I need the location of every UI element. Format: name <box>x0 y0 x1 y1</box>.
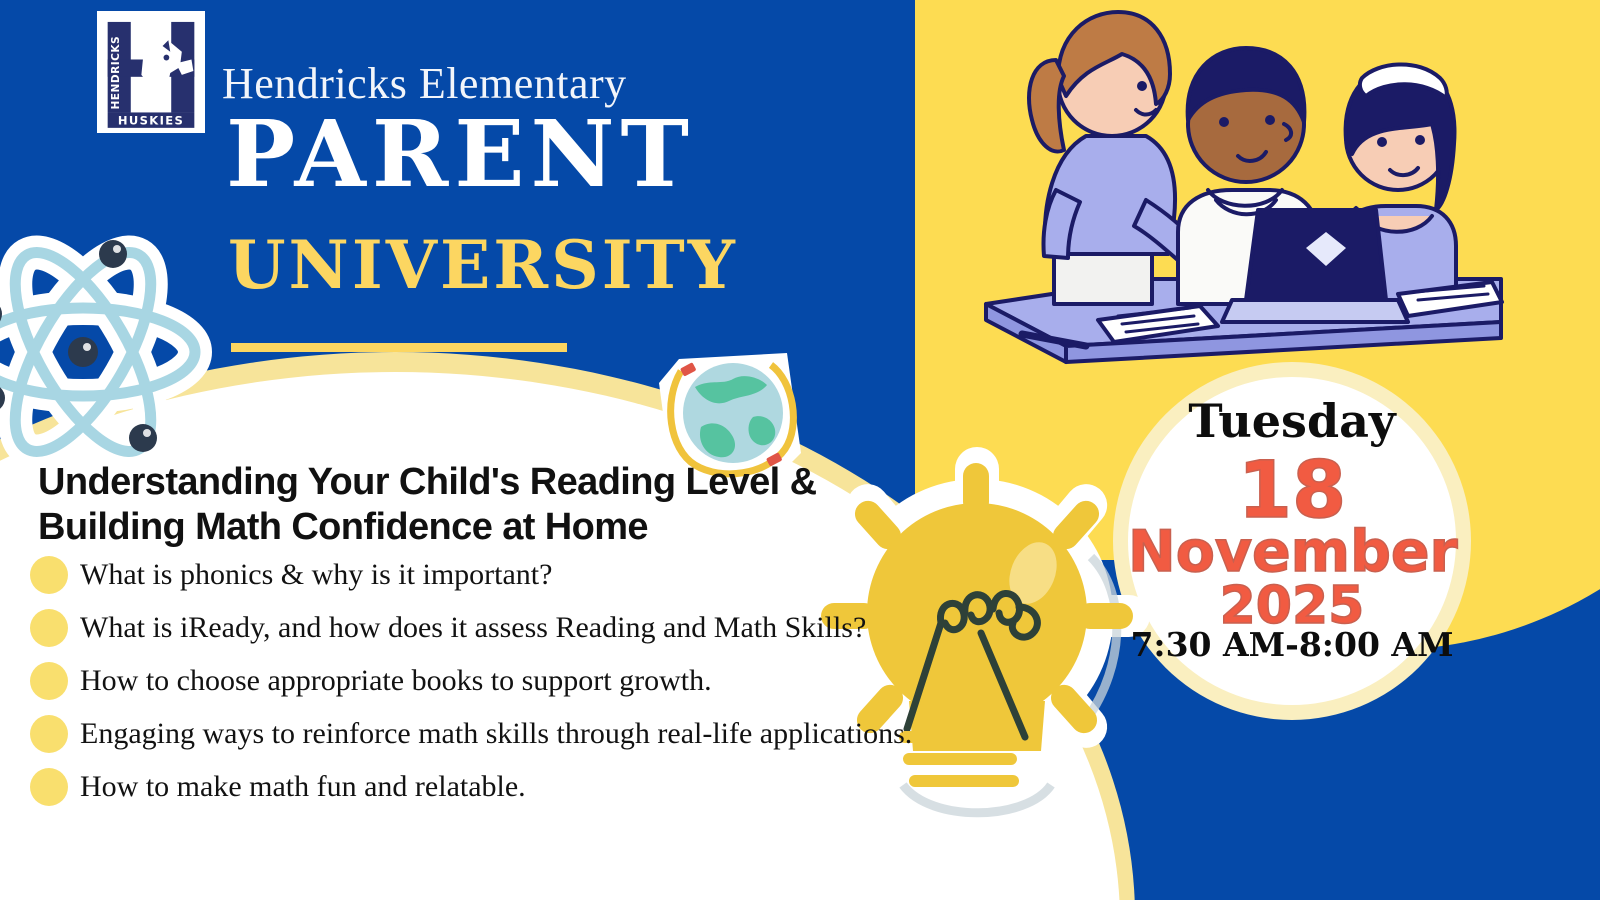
students-with-laptop-illustration <box>946 4 1506 384</box>
event-weekday: Tuesday <box>1128 398 1456 444</box>
title-line-parent: PARENT <box>226 108 695 200</box>
list-item-label: How to choose appropriate books to suppo… <box>80 664 712 698</box>
list-item: What is iReady, and how does it assess R… <box>30 601 890 654</box>
list-item-label: What is iReady, and how does it assess R… <box>80 611 866 645</box>
svg-text:HUSKIES: HUSKIES <box>118 113 184 127</box>
list-item-label: How to make math fun and relatable. <box>80 770 526 804</box>
list-item-label: Engaging ways to reinforce math skills t… <box>80 717 912 751</box>
atom-icon <box>0 228 214 476</box>
list-item-label: What is phonics & why is it important? <box>80 558 552 592</box>
topics-list: What is phonics & why is it important? W… <box>30 548 890 813</box>
page-title: Understanding Your Child's Reading Level… <box>38 460 828 550</box>
hendricks-huskies-logo: HENDRICKS HUSKIES <box>97 11 205 133</box>
list-item: How to make math fun and relatable. <box>30 760 890 813</box>
bullet-dot-icon <box>30 609 68 647</box>
list-item: Engaging ways to reinforce math skills t… <box>30 707 890 760</box>
bullet-dot-icon <box>30 715 68 753</box>
background-white-corner <box>0 820 60 900</box>
parent-university-flyer: HENDRICKS HUSKIES Hendricks Elementary P… <box>0 0 1600 900</box>
event-month: November <box>1128 524 1456 581</box>
event-time: 7:30 AM-8:00 AM <box>1128 628 1456 661</box>
svg-text:HENDRICKS: HENDRICKS <box>110 36 122 110</box>
title-line-university: UNIVERSITY <box>228 232 738 298</box>
list-item: What is phonics & why is it important? <box>30 548 890 601</box>
bullet-dot-icon <box>30 768 68 806</box>
bullet-dot-icon <box>30 556 68 594</box>
list-item: How to choose appropriate books to suppo… <box>30 654 890 707</box>
bullet-dot-icon <box>30 662 68 700</box>
gold-divider-rule <box>231 343 567 352</box>
